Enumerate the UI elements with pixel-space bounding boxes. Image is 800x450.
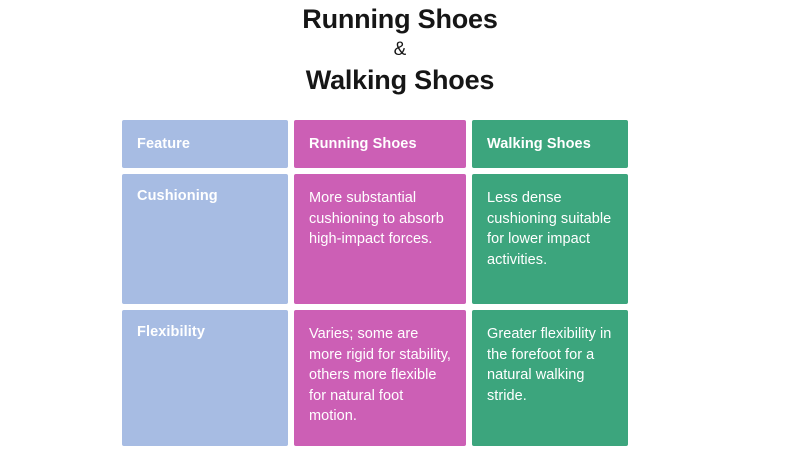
table-row: Cushioning More substantial cushioning t… [122,174,628,304]
table-header-row: Feature Running Shoes Walking Shoes [122,120,628,168]
table-header-running-shoes: Running Shoes [294,120,466,168]
cell-text-walking-cushioning: Less dense cushioning suitable for lower… [487,188,614,270]
table-header-feature: Feature [122,120,288,168]
feature-label-cushioning: Cushioning [137,188,274,205]
table-cell-walking-flexibility: Greater flexibility in the forefoot for … [472,310,628,446]
title-line-running-shoes: Running Shoes [0,2,800,37]
table-header-feature-label: Feature [122,136,190,152]
table-header-walking-shoes: Walking Shoes [472,120,628,168]
table-header-running-shoes-label: Running Shoes [294,136,417,152]
comparison-infographic: Running Shoes & Walking Shoes Feature Ru… [0,0,800,450]
table-cell-running-flexibility: Varies; some are more rigid for stabilit… [294,310,466,446]
title-ampersand: & [0,37,800,64]
table-cell-walking-cushioning: Less dense cushioning suitable for lower… [472,174,628,304]
cell-text-walking-flexibility: Greater flexibility in the forefoot for … [487,324,614,406]
cell-text-running-cushioning: More substantial cushioning to absorb hi… [309,188,452,250]
table-cell-feature-cushioning: Cushioning [122,174,288,304]
feature-label-flexibility: Flexibility [137,324,274,341]
title-line-walking-shoes: Walking Shoes [0,63,800,98]
table-cell-feature-flexibility: Flexibility [122,310,288,446]
table-cell-running-cushioning: More substantial cushioning to absorb hi… [294,174,466,304]
cell-text-running-flexibility: Varies; some are more rigid for stabilit… [309,324,452,427]
table-row: Flexibility Varies; some are more rigid … [122,310,628,446]
table-header-walking-shoes-label: Walking Shoes [472,136,591,152]
page-title: Running Shoes & Walking Shoes [0,0,800,98]
comparison-table: Feature Running Shoes Walking Shoes Cush… [122,120,628,450]
